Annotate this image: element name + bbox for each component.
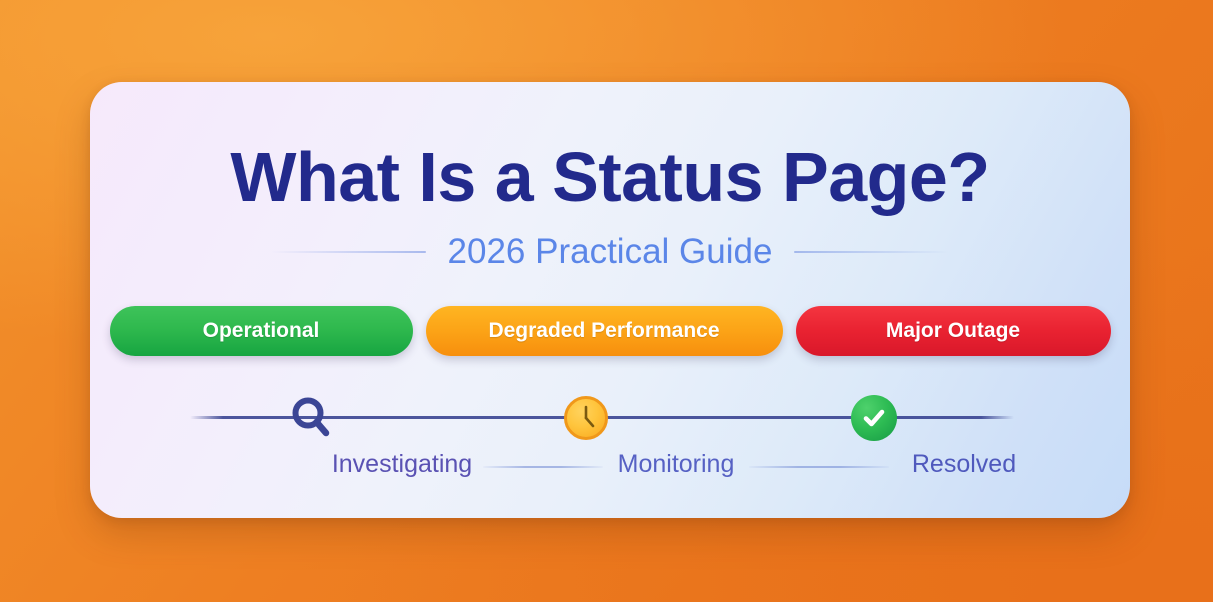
timeline-step-monitoring[interactable] [562, 394, 610, 442]
subtitle-rule-left [271, 251, 426, 253]
timeline-label-row: Investigating Monitoring Resolved [90, 450, 1130, 484]
timeline-step-investigating[interactable] [288, 394, 336, 442]
timeline-step-resolved[interactable] [850, 394, 898, 442]
timeline-label-investigating: Investigating [332, 450, 472, 479]
status-badge-operational[interactable]: Operational [110, 306, 413, 356]
poster-background: What Is a Status Page? 2026 Practical Gu… [0, 0, 1213, 602]
status-badge-major-outage[interactable]: Major Outage [796, 306, 1111, 356]
status-badge-label: Operational [203, 319, 320, 343]
subtitle-row: 2026 Practical Guide [90, 232, 1130, 272]
timeline-label-rule-1 [483, 466, 603, 468]
page-subtitle: 2026 Practical Guide [448, 232, 773, 272]
status-badge-row: Operational Degraded Performance Major O… [90, 306, 1130, 356]
checkmark-icon [859, 403, 889, 433]
status-page-card: What Is a Status Page? 2026 Practical Gu… [90, 82, 1130, 518]
timeline-label-rule-2 [749, 466, 889, 468]
subtitle-rule-right [794, 251, 949, 253]
check-circle-icon [851, 395, 897, 441]
page-title: What Is a Status Page? [90, 137, 1130, 217]
status-badge-label: Degraded Performance [488, 319, 719, 343]
timeline-label-resolved: Resolved [912, 450, 1016, 479]
timeline-label-monitoring: Monitoring [618, 450, 735, 479]
clock-icon [564, 396, 608, 440]
clock-hands-icon [567, 399, 605, 437]
status-badge-degraded-performance[interactable]: Degraded Performance [426, 306, 783, 356]
status-badge-label: Major Outage [886, 319, 1020, 343]
magnifying-glass-icon [289, 395, 335, 441]
